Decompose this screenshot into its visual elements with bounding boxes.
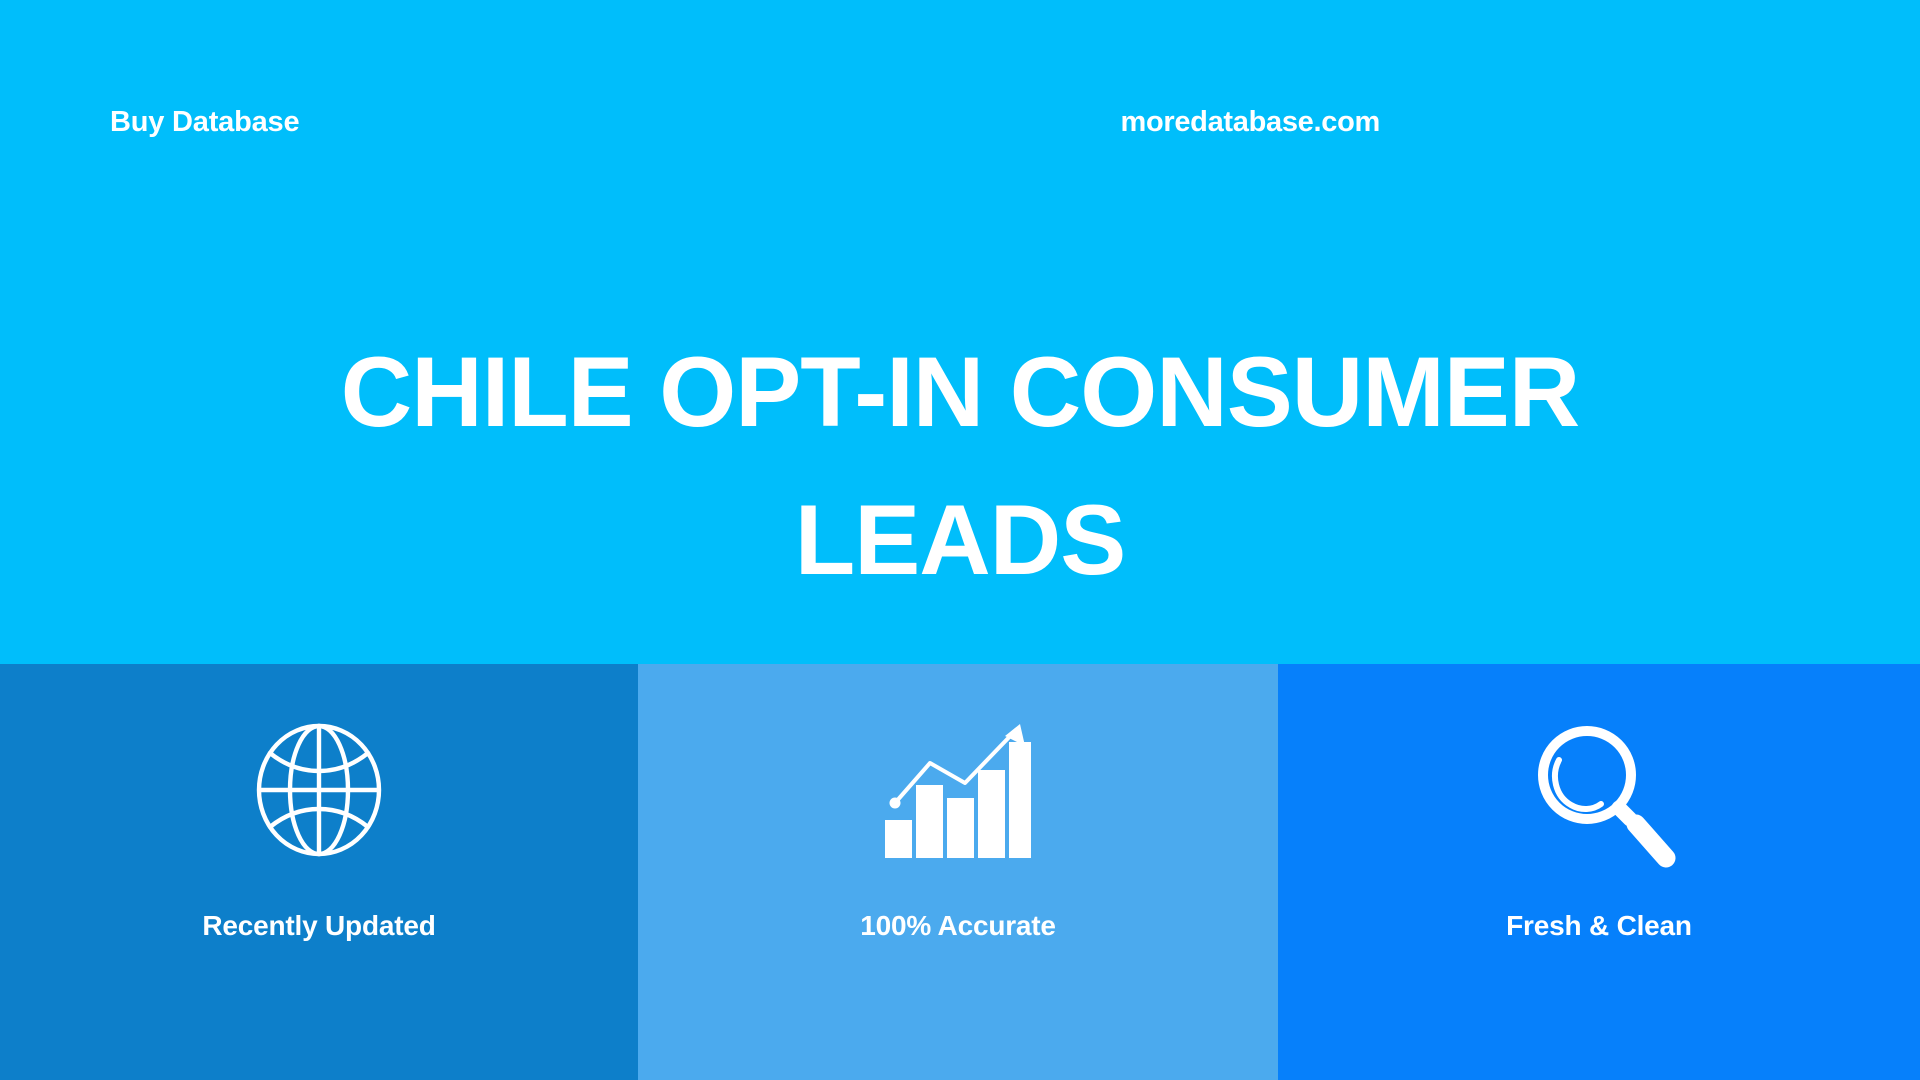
feature-panel-label: 100% Accurate: [860, 912, 1056, 940]
feature-panel-100-accurate: 100% Accurate: [638, 664, 1278, 1080]
feature-strip: Recently Updated 100% Accurate: [0, 664, 1920, 1080]
hero-section: Buy Database moredatabase.com CHILE OPT-…: [0, 0, 1920, 664]
feature-panel-label: Recently Updated: [202, 912, 435, 940]
page-title: CHILE OPT-IN CONSUMER LEADS: [0, 318, 1920, 614]
feature-panel-label: Fresh & Clean: [1506, 912, 1692, 940]
feature-panel-fresh-clean: Fresh & Clean: [1278, 664, 1920, 1080]
magnifying-glass-icon: [1519, 720, 1679, 860]
globe-icon: [239, 720, 399, 860]
website-label[interactable]: moredatabase.com: [1120, 106, 1380, 138]
feature-panel-recently-updated: Recently Updated: [0, 664, 638, 1080]
promo-banner: Buy Database moredatabase.com CHILE OPT-…: [0, 0, 1920, 1080]
website-label-container: moredatabase.com: [0, 106, 1920, 139]
growth-bar-chart-icon: [878, 720, 1038, 860]
